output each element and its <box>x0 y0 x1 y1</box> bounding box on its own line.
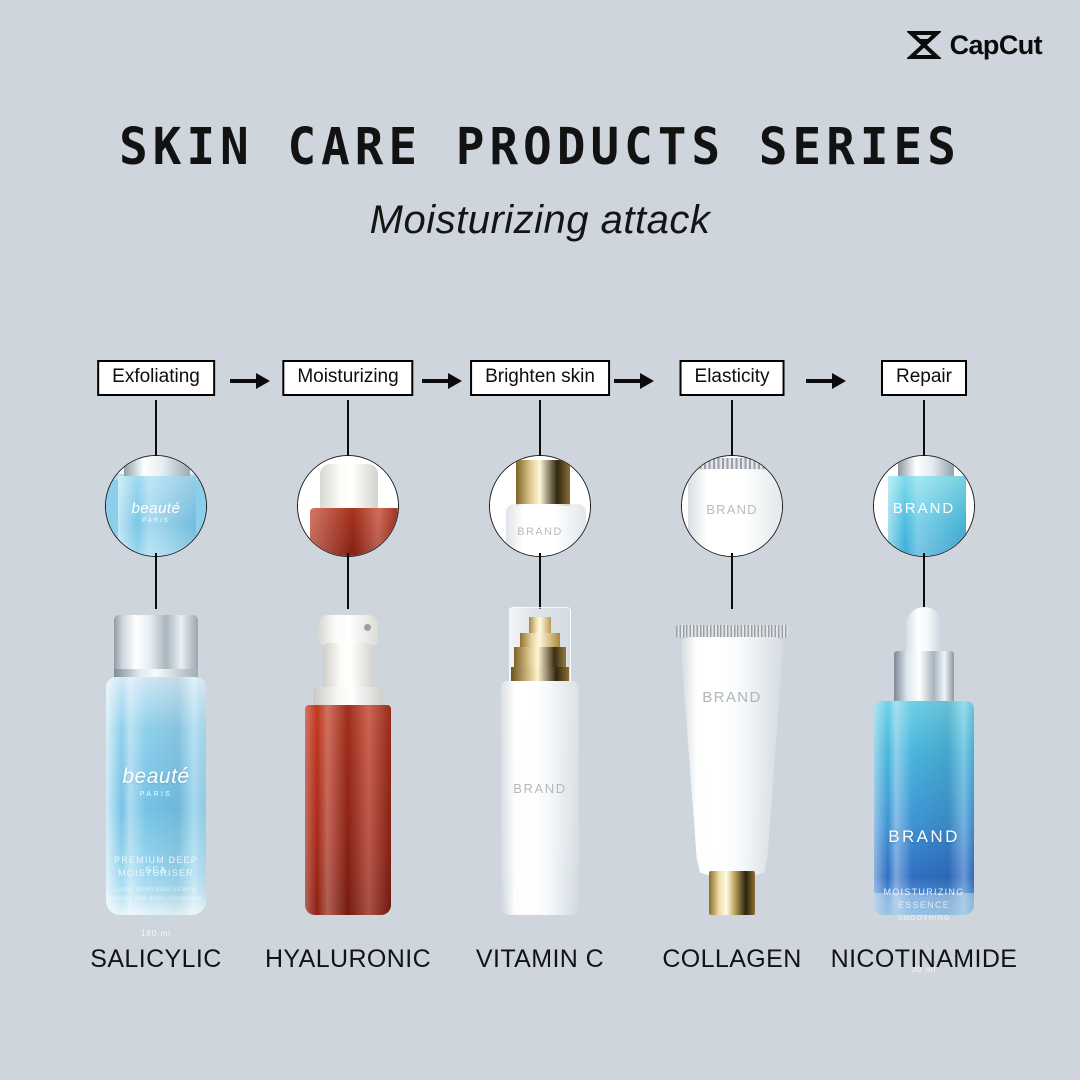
bottle-cap <box>114 615 198 673</box>
bottle-base <box>874 893 974 915</box>
tube-crimp-seal <box>676 625 788 638</box>
capcut-wordmark: CapCut <box>950 32 1042 59</box>
product-stage <box>252 605 444 915</box>
tube-body: BRAND <box>680 637 784 877</box>
connector-line-bottom <box>155 553 157 609</box>
page-subtitle: Moisturizing attack <box>0 198 1080 243</box>
magnifier-lens-collagen[interactable]: BRAND <box>681 455 783 557</box>
spray-head <box>318 615 378 645</box>
spray-nozzle-icon <box>364 624 371 631</box>
step-chip-repair[interactable]: Repair <box>881 360 967 396</box>
decor-dots <box>513 889 519 915</box>
flow-column-exfoliating: Exfoliating beauté PARIS beauté PARIS PR… <box>60 355 252 975</box>
product-volume: 180 ml <box>106 929 206 938</box>
connector-line-bottom <box>731 553 733 609</box>
connector-line-bottom <box>347 553 349 609</box>
lens-brand-text: BRAND <box>490 526 590 538</box>
lens-content <box>298 456 398 556</box>
magnifier-lens-salicylic[interactable]: beauté PARIS <box>105 455 207 557</box>
flow-column-brighten-skin: Brighten skin BRAND BRAND <box>444 355 636 975</box>
step-chip-brighten-skin[interactable]: Brighten skin <box>470 360 610 396</box>
page-title: SKIN CARE PRODUCTS SERIES <box>38 118 1042 177</box>
lens-content: BRAND <box>682 456 782 556</box>
product-collagen[interactable]: BRAND <box>672 625 792 915</box>
lens-brand-text: BRAND <box>874 500 974 517</box>
product-origin-text: PARIS <box>106 791 206 798</box>
product-salicylic[interactable]: beauté PARIS PREMIUM DEEP SEA MOISTURISE… <box>106 615 206 915</box>
product-flow: Exfoliating beauté PARIS beauté PARIS PR… <box>60 355 1020 975</box>
flow-column-repair: Repair BRAND BRAND MOISTURIZING ESSENCE … <box>828 355 1020 975</box>
product-name-salicylic: SALICYLIC <box>60 945 252 974</box>
product-brand-text: beauté <box>106 765 206 789</box>
product-name-row: SALICYLIC HYALURONIC VITAMIN C COLLAGEN … <box>60 945 1020 985</box>
product-name-collagen: COLLAGEN <box>636 945 828 974</box>
product-nicotinamide[interactable]: BRAND MOISTURIZING ESSENCE SMOOTHING 30 … <box>874 607 974 915</box>
magnifier-lens-vitamin-c[interactable]: BRAND <box>489 455 591 557</box>
product-fine-print: Lorem ipsum dolor sit amet facilisis nib… <box>106 886 206 904</box>
magnifier-lens-hyaluronic[interactable] <box>297 455 399 557</box>
lens-origin-text: PARIS <box>106 518 206 524</box>
capcut-watermark: CapCut <box>907 30 1042 60</box>
lens-content: BRAND <box>874 456 974 556</box>
bottle-body <box>305 705 391 915</box>
step-chip-exfoliating[interactable]: Exfoliating <box>97 360 215 396</box>
pump-tier <box>514 647 566 669</box>
connector-line-bottom <box>539 553 541 609</box>
product-name-nicotinamide: NICOTINAMIDE <box>828 945 1020 974</box>
capcut-logo-icon <box>907 30 941 60</box>
bottle-shoulder <box>313 687 383 707</box>
product-stage: BRAND MOISTURIZING ESSENCE SMOOTHING 30 … <box>828 605 1020 915</box>
product-desc-line2: MOISTURISER <box>106 868 206 878</box>
lens-content: BRAND <box>490 456 590 556</box>
connector-line-bottom <box>923 553 925 609</box>
product-brand-text: BRAND <box>874 827 974 847</box>
lens-content: beauté PARIS <box>106 456 206 556</box>
product-name-hyaluronic: HYALURONIC <box>252 945 444 974</box>
product-stage: BRAND <box>636 605 828 915</box>
bottle-body: BRAND <box>501 681 579 915</box>
bottle-body: beauté PARIS PREMIUM DEEP SEA MOISTURISE… <box>106 677 206 915</box>
product-brand-text: BRAND <box>501 781 579 796</box>
flow-column-moisturizing: Moisturizing <box>252 355 444 975</box>
step-chip-moisturizing[interactable]: Moisturizing <box>282 360 413 396</box>
product-desc-line3: SMOOTHING <box>874 915 974 922</box>
product-vitamin-c[interactable]: BRAND <box>501 607 579 915</box>
flow-column-elasticity: Elasticity BRAND BRAND <box>636 355 828 975</box>
lens-brand-text: BRAND <box>682 502 782 517</box>
product-brand-text: BRAND <box>680 689 784 706</box>
gold-cap <box>709 871 755 915</box>
spray-collar <box>323 643 373 691</box>
bottle-body: BRAND MOISTURIZING ESSENCE SMOOTHING 30 … <box>874 701 974 915</box>
product-stage: BRAND <box>444 605 636 915</box>
product-hyaluronic[interactable] <box>305 615 391 915</box>
magnifier-lens-nicotinamide[interactable]: BRAND <box>873 455 975 557</box>
product-stage: beauté PARIS PREMIUM DEEP SEA MOISTURISE… <box>60 605 252 915</box>
product-name-vitamin-c: VITAMIN C <box>444 945 636 974</box>
dropper-collar <box>894 651 954 703</box>
lens-brand-text: beauté <box>106 500 206 517</box>
step-chip-elasticity[interactable]: Elasticity <box>680 360 785 396</box>
dropper-bulb <box>906 607 942 657</box>
